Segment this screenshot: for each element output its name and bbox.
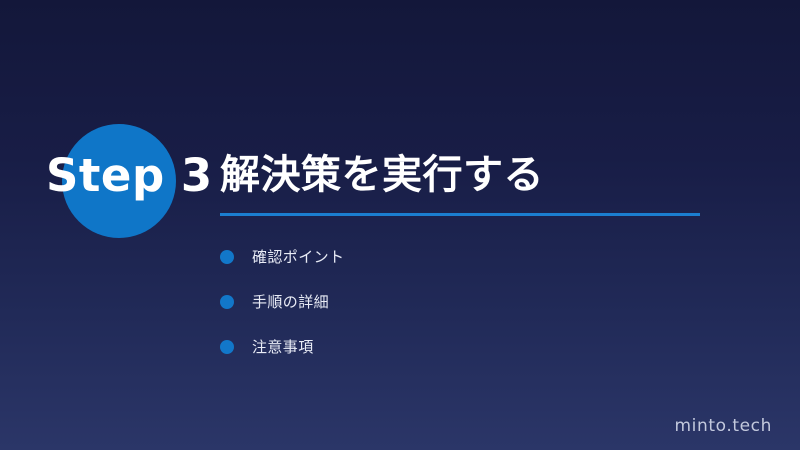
step-label: Step 3 bbox=[46, 148, 216, 204]
list-item: 注意事項 bbox=[220, 324, 740, 369]
bullet-dot-icon bbox=[220, 340, 234, 354]
title-divider bbox=[220, 213, 700, 216]
bullet-list: 確認ポイント 手順の詳細 注意事項 bbox=[220, 234, 740, 369]
list-item: 手順の詳細 bbox=[220, 279, 740, 324]
footer-brand: minto.tech bbox=[675, 416, 772, 436]
list-item: 確認ポイント bbox=[220, 234, 740, 279]
list-item-label: 確認ポイント bbox=[252, 246, 344, 267]
page-title: 解決策を実行する bbox=[220, 146, 760, 204]
presentation-slide: Step 3 解決策を実行する 確認ポイント 手順の詳細 注意事項 minto.… bbox=[0, 0, 800, 450]
bullet-dot-icon bbox=[220, 250, 234, 264]
bullet-dot-icon bbox=[220, 295, 234, 309]
list-item-label: 注意事項 bbox=[252, 336, 314, 357]
list-item-label: 手順の詳細 bbox=[252, 291, 329, 312]
